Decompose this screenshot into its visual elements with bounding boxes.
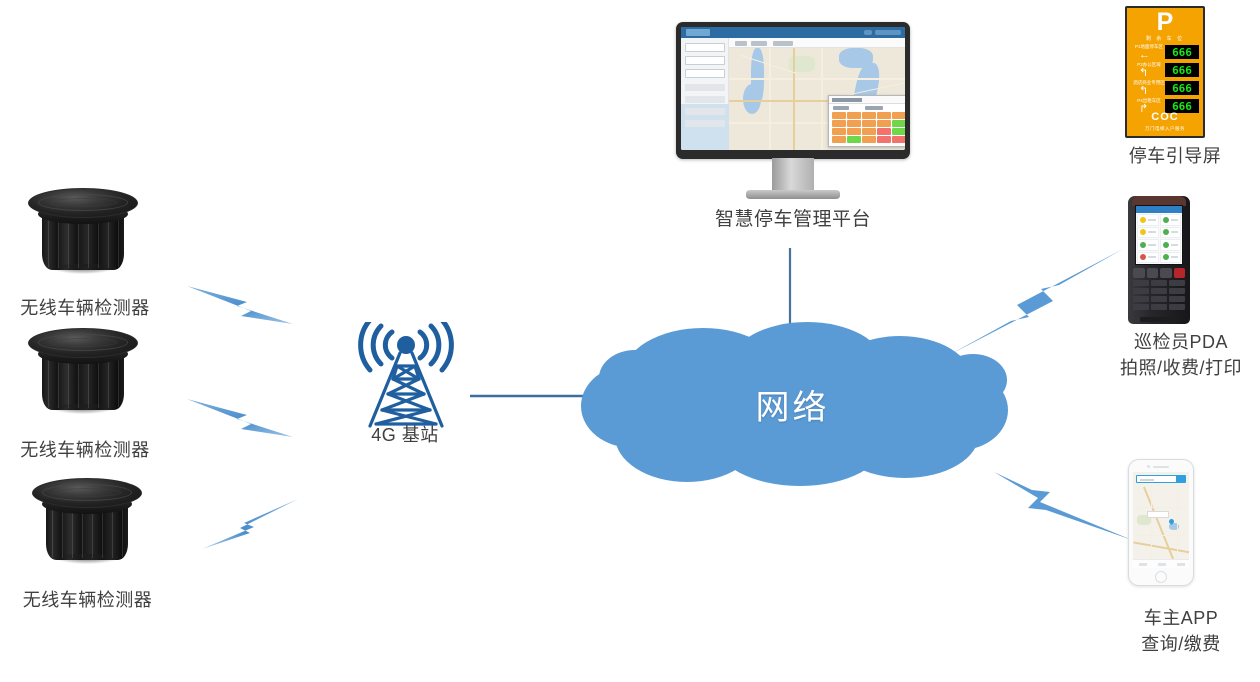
sign-row: P2办公区域 ↰ 666 [1131,62,1199,79]
dashboard-logo [686,29,710,36]
sign-brand-logo: COC [1127,111,1203,123]
parking-space-cell[interactable] [832,128,846,135]
in-ground-vehicle-detector-icon [32,470,142,566]
platform-label: 智慧停车管理平台 [663,207,923,232]
dashboard-account [875,30,901,35]
sidebar-item[interactable] [685,108,725,115]
sidebar-item[interactable] [685,56,725,65]
sidebar-item[interactable] [685,120,725,127]
desktop-monitor-icon [676,22,910,194]
sidebar-item[interactable] [685,43,725,52]
in-ground-vehicle-detector-icon [28,320,138,416]
guidance-sign-label: 停车引导屏 [1090,144,1260,169]
parking-space-cell[interactable] [877,112,891,119]
parking-space-cell[interactable] [892,112,905,119]
phone-map[interactable] [1133,485,1189,568]
dashboard-icon-slot [864,30,872,35]
sign-footer-text: 万门电梯入户服务 [1127,126,1203,132]
sign-row-arrow: ↰ [1139,68,1148,79]
parking-space-cell[interactable] [832,136,846,143]
sign-row: 酒店商业专用区 ↰ 666 [1131,80,1199,97]
phone-label-line2: 查询/缴费 [1096,632,1260,657]
wireless-link-bolt-icon [185,272,300,334]
parking-space-cell[interactable] [892,128,905,135]
sidebar-item[interactable] [685,69,725,78]
in-ground-vehicle-detector-icon [28,180,138,276]
sign-row-count: 666 [1165,63,1199,77]
parking-space-cell[interactable] [862,136,876,143]
platform-screen [681,27,905,150]
pda-screen [1135,205,1183,265]
sign-p-symbol: P [1127,10,1203,35]
parking-lot-popup[interactable] [828,95,905,147]
parking-space-grid [832,112,905,143]
parking-guidance-sign-icon: P 剩 余 车 位 P1地面停车区 ← 666 P2办公区域 ↰ 666 酒店商… [1125,6,1205,138]
sign-subtitle: 剩 余 车 位 [1127,36,1203,42]
parking-space-cell[interactable] [832,112,846,119]
sign-row-count: 666 [1165,45,1199,59]
pda-label-line1: 巡检员PDA [1096,330,1260,355]
network-cloud-label: 网络 [575,380,1010,429]
phone-screen [1133,472,1189,568]
dashboard-header-bar [681,27,905,38]
sign-row: P1地面停车区 ← 666 [1131,44,1199,61]
detector-3-label: 无线车辆检测器 [0,588,175,613]
sign-row-arrow: ↰ [1139,86,1148,97]
parking-space-cell[interactable] [847,136,861,143]
sidebar-item[interactable] [685,96,725,103]
dashboard-toolbar [729,38,905,48]
sign-row-arrow: ← [1139,50,1150,61]
parking-space-cell[interactable] [877,128,891,135]
diagram-canvas: 无线车辆检测器 无线车辆检测器 无线车辆检测器 [0,0,1260,682]
detector-1-label: 无线车辆检测器 [0,296,170,321]
parking-space-cell[interactable] [847,128,861,135]
parking-space-cell[interactable] [847,112,861,119]
dashboard-sidebar [681,38,729,150]
parking-space-cell[interactable] [892,120,905,127]
dashboard-map[interactable] [729,48,905,150]
smartphone-icon [1128,459,1194,586]
parking-space-cell[interactable] [862,120,876,127]
detector-2-label: 无线车辆检测器 [0,438,170,463]
parking-space-cell[interactable] [847,120,861,127]
sidebar-item[interactable] [685,84,725,91]
phone-search-bar[interactable] [1136,475,1186,483]
sign-row-zone: 酒店商业专用区 [1131,80,1167,86]
parking-space-cell[interactable] [892,136,905,143]
sign-row-zone: P4出租车区 [1131,98,1167,104]
parking-space-cell[interactable] [877,120,891,127]
sign-row-zone: P2办公区域 [1131,62,1167,68]
wireless-link-bolt-icon [992,462,1137,547]
parking-space-cell[interactable] [862,112,876,119]
base-station-label: 4G 基站 [330,423,480,448]
handheld-pda-icon [1128,196,1190,324]
sign-row-count: 666 [1165,81,1199,95]
pda-label-line2: 拍照/收费/打印 [1096,356,1260,381]
wireless-link-bolt-icon [200,495,305,555]
phone-label-line1: 车主APP [1096,606,1260,631]
cell-tower-icon [352,322,460,432]
parking-space-cell[interactable] [877,136,891,143]
wireless-link-bolt-icon [185,385,300,447]
parking-space-cell[interactable] [862,128,876,135]
parking-space-cell[interactable] [832,120,846,127]
